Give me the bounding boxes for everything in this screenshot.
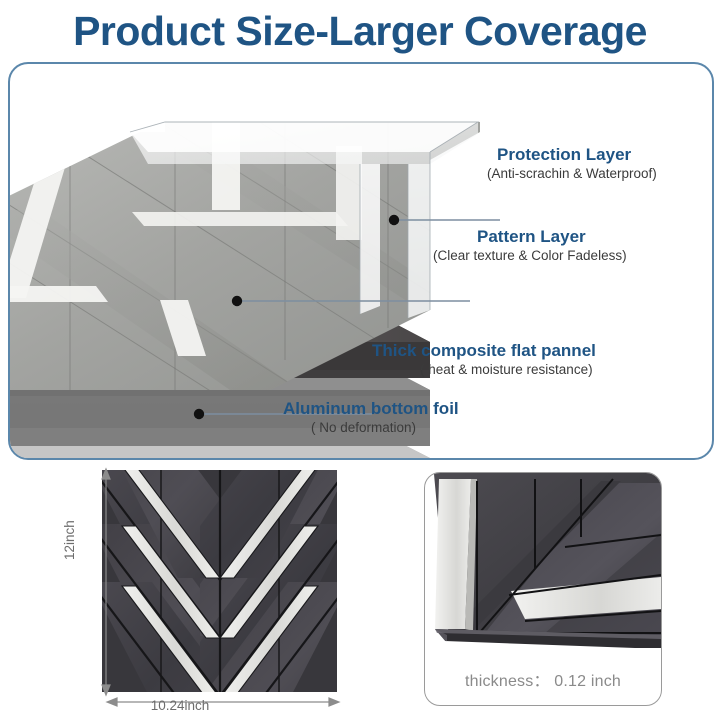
callout-composite-subtitle: ( heat & moisture resistance) [420, 361, 596, 379]
callout-protection-title: Protection Layer [497, 144, 657, 165]
page-title: Product Size-Larger Coverage [0, 6, 720, 56]
leader-dot-panel [194, 409, 204, 419]
width-dimension-label: 10.24inch [0, 698, 360, 713]
callout-foil-title: Aluminum bottom foil [283, 398, 459, 419]
callout-composite-panel: Thick composite flat pannel ( heat & moi… [372, 340, 596, 379]
leader-dot-pattern [232, 296, 242, 306]
callout-pattern-subtitle: (Clear texture & Color Fadeless) [433, 247, 627, 265]
callout-pattern-title: Pattern Layer [477, 226, 627, 247]
callout-foil-subtitle: ( No deformation) [311, 419, 459, 437]
thickness-label: thickness： 0.12 inch [425, 667, 661, 691]
chevron-field [90, 466, 350, 716]
callout-aluminum-foil: Aluminum bottom foil ( No deformation) [283, 398, 459, 437]
callout-protection-layer: Protection Layer (Anti-scrachin & Waterp… [497, 144, 657, 183]
height-dimension-label: 12inch [62, 520, 77, 560]
leader-dot-protection [389, 215, 399, 225]
callout-pattern-layer: Pattern Layer (Clear texture & Color Fad… [477, 226, 627, 265]
callout-protection-subtitle: (Anti-scrachin & Waterproof) [487, 165, 657, 183]
callout-composite-title: Thick composite flat pannel [372, 340, 596, 361]
chevron-tile-illustration [60, 466, 410, 716]
product-size-panel [60, 466, 410, 716]
infographic-root: Product Size-Larger Coverage [0, 0, 720, 720]
thickness-card: thickness： 0.12 inch [424, 472, 662, 706]
